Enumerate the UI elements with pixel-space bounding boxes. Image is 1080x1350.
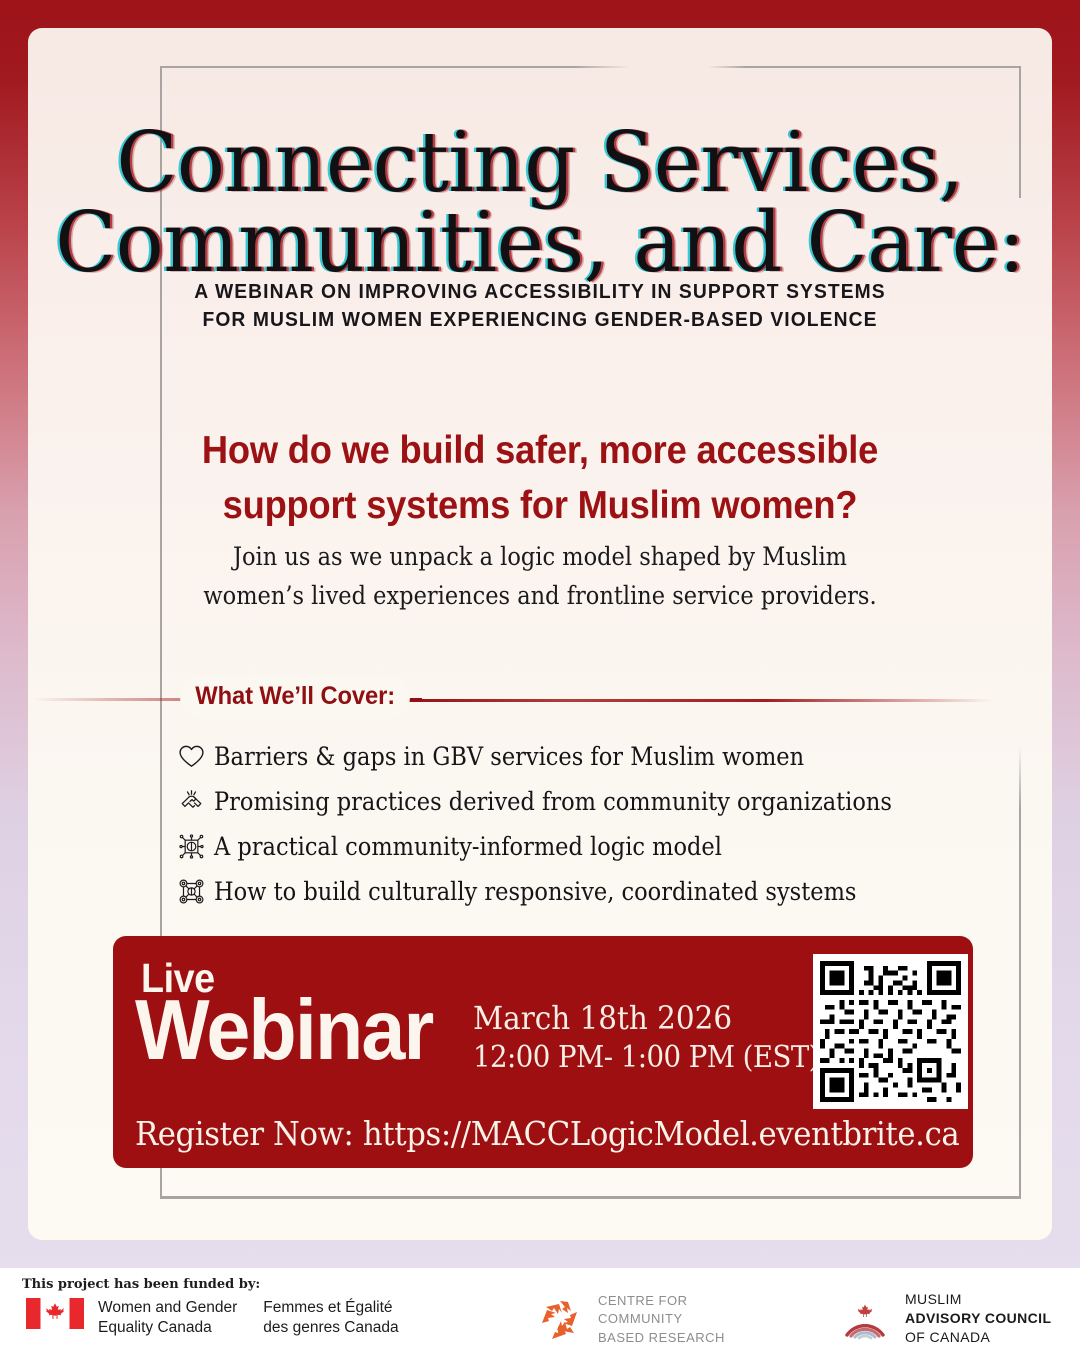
macc-text: MUSLIM ADVISORY COUNCIL OF CANADA — [905, 1290, 1051, 1347]
macc-line1: MUSLIM — [905, 1290, 1051, 1309]
title-line-1: Connecting Services, — [48, 124, 1031, 202]
list-item-label: A practical community-informed logic mod… — [214, 832, 722, 861]
ccbr-logo: CENTRE FOR COMMUNITY BASED RESEARCH — [536, 1292, 725, 1347]
inner-frame-right — [1019, 746, 1021, 1198]
subtitle-line-2: FOR MUSLIM WOMEN EXPERIENCING GENDER-BAS… — [59, 306, 1022, 334]
wage-en-line1: Women and Gender — [98, 1298, 237, 1318]
network-icon — [174, 829, 208, 863]
list-item: How to build culturally responsive, coor… — [174, 869, 1004, 913]
cta-date: March 18th 2026 — [473, 998, 819, 1038]
ccbr-text: CENTRE FOR COMMUNITY BASED RESEARCH — [598, 1292, 725, 1347]
page-subtitle: A WEBINAR ON IMPROVING ACCESSIBILITY IN … — [28, 278, 1052, 333]
footer-logos: This project has been funded by: Women a… — [0, 1268, 1080, 1350]
lead-line-1: Join us as we unpack a logic model shape… — [79, 538, 1001, 577]
macc-line2: ADVISORY COUNCIL — [905, 1309, 1051, 1328]
wage-text-fr: Femmes et Égalité des genres Canada — [263, 1298, 398, 1338]
list-item: Promising practices derived from communi… — [174, 779, 1004, 823]
register-link[interactable]: Register Now: https://MACCLogicModel.eve… — [135, 1114, 959, 1153]
funded-by-label: This project has been funded by: — [22, 1277, 260, 1292]
cta-datetime: March 18th 2026 12:00 PM- 1:00 PM (EST) — [473, 998, 849, 1077]
wage-fr-line2: des genres Canada — [263, 1318, 398, 1338]
inner-frame-top-left — [160, 66, 630, 68]
wage-en-line2: Equality Canada — [98, 1318, 237, 1338]
lead-line-2: women’s lived experiences and frontline … — [79, 577, 1001, 616]
wage-canada-logo: Women and Gender Equality Canada Femmes … — [26, 1298, 399, 1338]
subtitle-line-1: A WEBINAR ON IMPROVING ACCESSIBILITY IN … — [59, 278, 1022, 306]
poster-canvas: Connecting Services, Communities, and Ca… — [0, 0, 1080, 1350]
cta-time: 12:00 PM- 1:00 PM (EST) — [473, 1038, 819, 1077]
cover-list: Barriers & gaps in GBV services for Musl… — [174, 734, 1004, 914]
systems-icon — [174, 874, 208, 908]
macc-logo: MUSLIM ADVISORY COUNCIL OF CANADA — [838, 1290, 1051, 1347]
footer-strip: This project has been funded by: Women a… — [0, 1268, 1080, 1350]
ccbr-line3: BASED RESEARCH — [598, 1329, 725, 1347]
ccbr-line1: CENTRE FOR — [598, 1292, 725, 1310]
macc-crescent-icon — [838, 1291, 892, 1345]
list-item-label: How to build culturally responsive, coor… — [214, 877, 856, 906]
title-line-2: Communities, and Care: — [48, 204, 1031, 282]
inner-frame-bottom — [160, 1196, 1021, 1199]
handshake-icon — [174, 784, 208, 818]
heart-icon — [174, 739, 208, 773]
inner-frame-top-right — [708, 66, 1021, 68]
page-title: Connecting Services, Communities, and Ca… — [28, 124, 1052, 282]
poster-card: Connecting Services, Communities, and Ca… — [28, 28, 1052, 1240]
wage-text-en: Women and Gender Equality Canada — [98, 1298, 237, 1338]
list-item-label: Promising practices derived from communi… — [214, 787, 892, 816]
lead-paragraph: Join us as we unpack a logic model shape… — [28, 538, 1052, 616]
question-line-2: support systems for Muslim women? — [64, 478, 1016, 533]
question-line-1: How do we build safer, more accessible — [64, 423, 1016, 478]
section-heading: What We’ll Cover: — [180, 676, 410, 719]
cta-banner[interactable]: Live Webinar March 18th 2026 12:00 PM- 1… — [113, 936, 973, 1168]
cta-webinar-label: Webinar — [135, 988, 432, 1073]
macc-line3: OF CANADA — [905, 1328, 1051, 1347]
list-item: Barriers & gaps in GBV services for Musl… — [174, 734, 1004, 778]
list-item: A practical community-informed logic mod… — [174, 824, 1004, 868]
ccbr-line2: COMMUNITY — [598, 1310, 725, 1328]
wage-fr-line1: Femmes et Égalité — [263, 1298, 398, 1318]
divider-rule-right — [393, 699, 993, 702]
list-item-label: Barriers & gaps in GBV services for Musl… — [214, 742, 804, 771]
section-divider: What We’ll Cover: — [28, 676, 1052, 724]
canada-flag-icon — [26, 1298, 84, 1329]
question-headline: How do we build safer, more accessible s… — [28, 423, 1052, 534]
qr-code-icon[interactable] — [813, 954, 968, 1109]
ccbr-starburst-icon — [536, 1295, 586, 1345]
